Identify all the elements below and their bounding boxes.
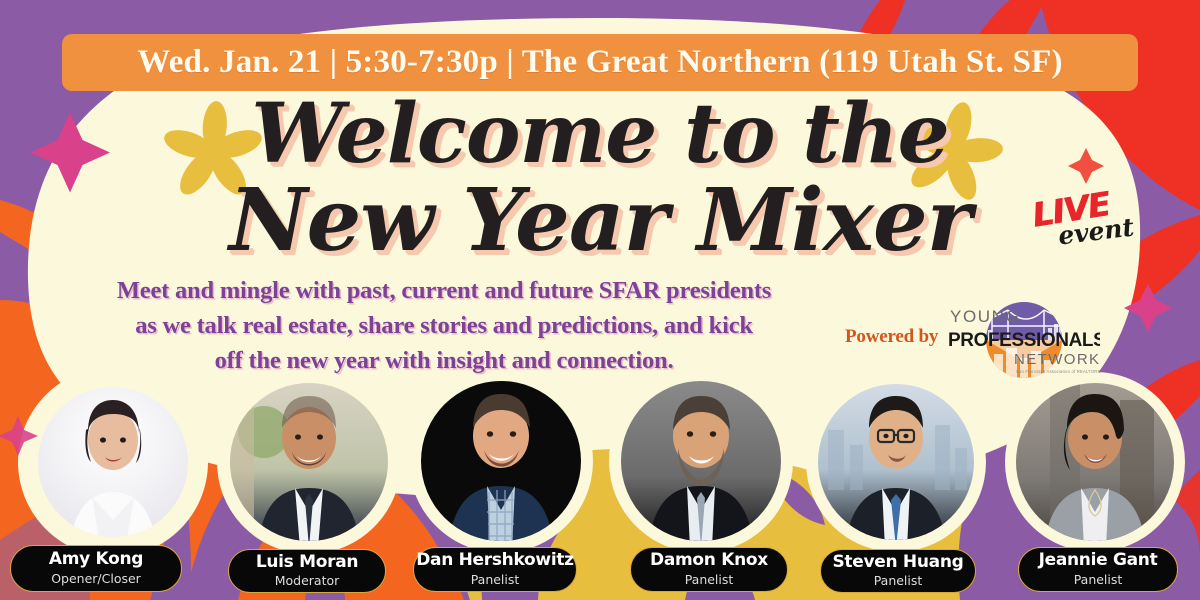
speaker-name: Jeannie Gant: [1039, 552, 1158, 570]
portrait-luis-moran[interactable]: [230, 383, 388, 541]
svg-text:PROFESSIONALS: PROFESSIONALS: [948, 330, 1100, 351]
speaker-name: Amy Kong: [49, 551, 143, 569]
speaker-name: Damon Knox: [650, 552, 768, 570]
speaker-name: Dan Hershkowitz: [416, 552, 574, 570]
portrait-dan-hershkowitz[interactable]: [421, 381, 581, 541]
speaker-name: Luis Moran: [256, 554, 358, 572]
speaker-role: Panelist: [685, 572, 734, 587]
date-venue-banner: Wed. Jan. 21 | 5:30-7:30p | The Great No…: [62, 34, 1138, 91]
speaker-role: Panelist: [471, 572, 520, 587]
description-line-1: Meet and mingle with past, current and f…: [58, 274, 830, 309]
event-flyer: Wed. Jan. 21 | 5:30-7:30p | The Great No…: [0, 0, 1200, 600]
powered-by-row: Powered by: [845, 296, 1100, 378]
speaker-badge-jeannie-gant[interactable]: Jeannie Gant Panelist: [1018, 547, 1178, 592]
portrait-jeannie-gant[interactable]: [1016, 383, 1174, 541]
speaker-badge-amy-kong[interactable]: Amy Kong Opener/Closer: [10, 545, 182, 592]
speaker-role: Moderator: [275, 573, 340, 588]
description-line-3: off the new year with insight and connec…: [58, 344, 830, 379]
portrait-damon-knox[interactable]: [621, 381, 781, 541]
speaker-role: Opener/Closer: [51, 571, 141, 586]
speaker-badge-damon-knox[interactable]: Damon Knox Panelist: [630, 547, 788, 592]
speaker-name: Steven Huang: [832, 554, 963, 572]
description-line-2: as we talk real estate, share stories an…: [58, 309, 830, 344]
svg-text:YOUNG: YOUNG: [950, 307, 1020, 326]
powered-by-label: Powered by: [845, 326, 938, 348]
date-venue-text: Wed. Jan. 21 | 5:30-7:30p | The Great No…: [137, 44, 1062, 81]
live-event-badge: LIVE event: [1032, 190, 1142, 254]
speaker-badge-dan-hershkowitz[interactable]: Dan Hershkowitz Panelist: [413, 547, 577, 592]
speaker-role: Panelist: [874, 573, 923, 588]
ypn-logo: YOUNG PROFESSIONALS NETWORK San Francisc…: [948, 296, 1100, 378]
portrait-steven-huang[interactable]: [818, 384, 974, 540]
speaker-badge-luis-moran[interactable]: Luis Moran Moderator: [228, 549, 386, 593]
svg-text:San Francisco Association of R: San Francisco Association of REALTORS: [1016, 369, 1100, 374]
speaker-badge-steven-huang[interactable]: Steven Huang Panelist: [820, 549, 976, 593]
speaker-role: Panelist: [1074, 572, 1123, 587]
svg-text:NETWORK: NETWORK: [1014, 351, 1100, 368]
portrait-amy-kong[interactable]: [38, 387, 188, 537]
event-description: Meet and mingle with past, current and f…: [58, 274, 830, 378]
